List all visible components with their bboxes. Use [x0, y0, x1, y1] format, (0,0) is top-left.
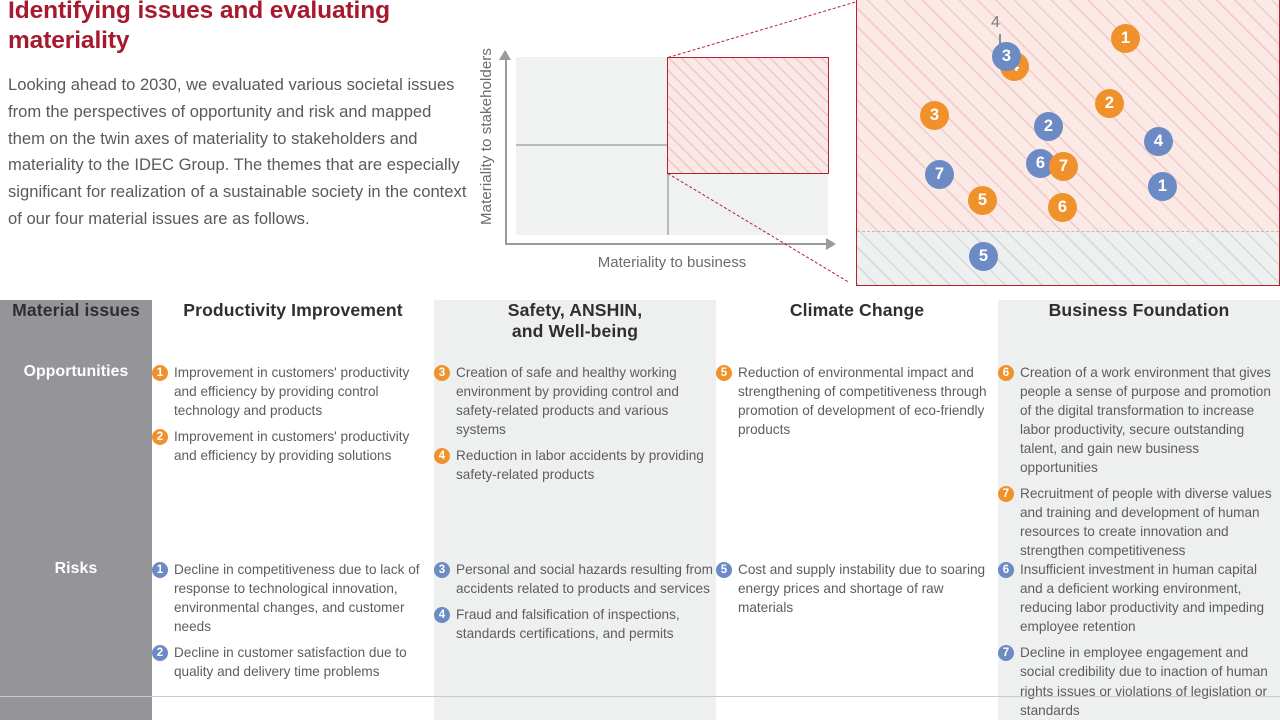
matrix-marker-label: 5	[978, 191, 987, 210]
matrix-y-axis-arrow-icon	[499, 50, 511, 60]
header-col-safety-text: Safety, ANSHIN,and Well-being	[508, 300, 642, 341]
matrix-marker-label: 7	[1059, 157, 1068, 176]
matrix-marker-label: 3	[1002, 47, 1011, 66]
matrix-marker-opportunity-2: 2	[1095, 89, 1124, 118]
list-item: 5Reduction of environmental impact and s…	[716, 363, 998, 439]
matrix-marker-opportunity-1: 1	[1111, 24, 1140, 53]
item-number-badge: 2	[152, 645, 168, 661]
item-text: Fraud and falsification of inspections, …	[456, 605, 716, 643]
matrix-marker-opportunity-5: 5	[968, 186, 997, 215]
item-number-badge: 7	[998, 486, 1014, 502]
item-number-badge: 1	[152, 562, 168, 578]
table-cell-opportunities-col4: 6Creation of a work environment that giv…	[998, 363, 1280, 560]
item-text: Creation of safe and healthy working env…	[456, 363, 716, 439]
item-number-badge: 3	[434, 562, 450, 578]
item-number-badge: 4	[434, 607, 450, 623]
row-label-opportunities: Opportunities	[0, 363, 152, 560]
item-text: Reduction in labor accidents by providin…	[456, 446, 716, 484]
intro-block: Identifying issues and evaluating materi…	[8, 0, 470, 233]
matrix-marker-risk-3: 3	[992, 42, 1021, 71]
table-cell-opportunities-col3: 5Reduction of environmental impact and s…	[716, 363, 998, 560]
matrix-marker-label: 6	[1036, 154, 1045, 173]
matrix-marker-risk-4: 4	[1144, 127, 1173, 156]
table-body: Opportunities1Improvement in customers' …	[0, 363, 1280, 720]
matrix-marker-label: 1	[1121, 29, 1130, 48]
header-col-safety-anshin-wellbeing: Safety, ANSHIN,and Well-being	[434, 300, 716, 363]
item-text: Decline in employee engagement and socia…	[1020, 643, 1280, 719]
table-row-opportunities: Opportunities1Improvement in customers' …	[0, 363, 1280, 560]
list-item: 7Recruitment of people with diverse valu…	[998, 484, 1280, 560]
list-item: 2Decline in customer satisfaction due to…	[152, 643, 434, 681]
matrix-marker-risk-1: 1	[1148, 172, 1177, 201]
item-text: Improvement in customers' productivity a…	[174, 363, 434, 420]
list-item: 4Fraud and falsification of inspections,…	[434, 605, 716, 643]
item-text: Personal and social hazards resulting fr…	[456, 560, 716, 598]
matrix-marker-risk-5: 5	[969, 242, 998, 271]
marker-callout-label-4: 4	[991, 14, 1000, 32]
list-item: 1Improvement in customers' productivity …	[152, 363, 434, 420]
matrix-marker-label: 3	[930, 106, 939, 125]
item-text: Creation of a work environment that give…	[1020, 363, 1280, 477]
matrix-marker-risk-2: 2	[1034, 112, 1063, 141]
item-number-badge: 6	[998, 562, 1014, 578]
header-col-climate-change: Climate Change	[716, 300, 998, 363]
matrix-highlight-region	[667, 57, 829, 174]
matrix-marker-label: 2	[1105, 94, 1114, 113]
zoom-panel-lower-band	[857, 231, 1279, 285]
item-number-badge: 2	[152, 429, 168, 445]
item-text: Recruitment of people with diverse value…	[1020, 484, 1280, 560]
item-text: Insufficient investment in human capital…	[1020, 560, 1280, 636]
matrix-zoom-panel	[856, 0, 1280, 286]
list-item: 7Decline in employee engagement and soci…	[998, 643, 1280, 719]
matrix-marker-opportunity-3: 3	[920, 101, 949, 130]
intro-paragraph: Looking ahead to 2030, we evaluated vari…	[8, 72, 470, 233]
matrix-marker-label: 4	[1154, 132, 1163, 151]
list-item: 3Creation of safe and healthy working en…	[434, 363, 716, 439]
item-number-badge: 4	[434, 448, 450, 464]
top-section: Identifying issues and evaluating materi…	[0, 0, 1280, 292]
item-number-badge: 1	[152, 365, 168, 381]
item-number-badge: 5	[716, 365, 732, 381]
table-header-row: Material issues Productivity Improvement…	[0, 300, 1280, 363]
item-text: Decline in customer satisfaction due to …	[174, 643, 434, 681]
materiality-table: Material issues Productivity Improvement…	[0, 300, 1280, 720]
matrix-marker-risk-7: 7	[925, 160, 954, 189]
matrix-marker-label: 1	[1158, 177, 1167, 196]
list-item: 2Improvement in customers' productivity …	[152, 427, 434, 465]
header-col-business-foundation: Business Foundation	[998, 300, 1280, 363]
item-text: Cost and supply instability due to soari…	[738, 560, 998, 617]
matrix-marker-label: 2	[1044, 117, 1053, 136]
table-cell-opportunities-col1: 1Improvement in customers' productivity …	[152, 363, 434, 560]
list-item: 1Decline in competitiveness due to lack …	[152, 560, 434, 636]
list-item: 3Personal and social hazards resulting f…	[434, 560, 716, 598]
matrix-x-axis-arrow-icon	[826, 238, 836, 250]
list-item: 6Insufficient investment in human capita…	[998, 560, 1280, 636]
row-label-text: Opportunities	[24, 363, 129, 380]
matrix-marker-label: 6	[1058, 198, 1067, 217]
header-col-productivity-improvement: Productivity Improvement	[152, 300, 434, 363]
table-bottom-rule	[0, 696, 1280, 697]
item-number-badge: 7	[998, 645, 1014, 661]
item-text: Improvement in customers' productivity a…	[174, 427, 434, 465]
header-material-issues: Material issues	[0, 300, 152, 363]
list-item: 6Creation of a work environment that giv…	[998, 363, 1280, 477]
matrix-marker-opportunity-6: 6	[1048, 193, 1077, 222]
matrix-marker-label: 5	[979, 247, 988, 266]
row-label-text: Risks	[55, 560, 98, 577]
list-item: 5Cost and supply instability due to soar…	[716, 560, 998, 617]
list-item: 4Reduction in labor accidents by providi…	[434, 446, 716, 484]
item-text: Decline in competitiveness due to lack o…	[174, 560, 434, 636]
item-number-badge: 6	[998, 365, 1014, 381]
page-title: Identifying issues and evaluating materi…	[8, 0, 470, 56]
item-number-badge: 5	[716, 562, 732, 578]
item-text: Reduction of environmental impact and st…	[738, 363, 998, 439]
matrix-x-axis-label: Materiality to business	[512, 254, 832, 271]
matrix-marker-opportunity-7: 7	[1049, 152, 1078, 181]
table-cell-opportunities-col2: 3Creation of safe and healthy working en…	[434, 363, 716, 560]
matrix-y-axis-label: Materiality to stakeholders	[478, 48, 495, 225]
item-number-badge: 3	[434, 365, 450, 381]
matrix-y-axis-line	[505, 52, 507, 244]
matrix-marker-label: 7	[935, 165, 944, 184]
